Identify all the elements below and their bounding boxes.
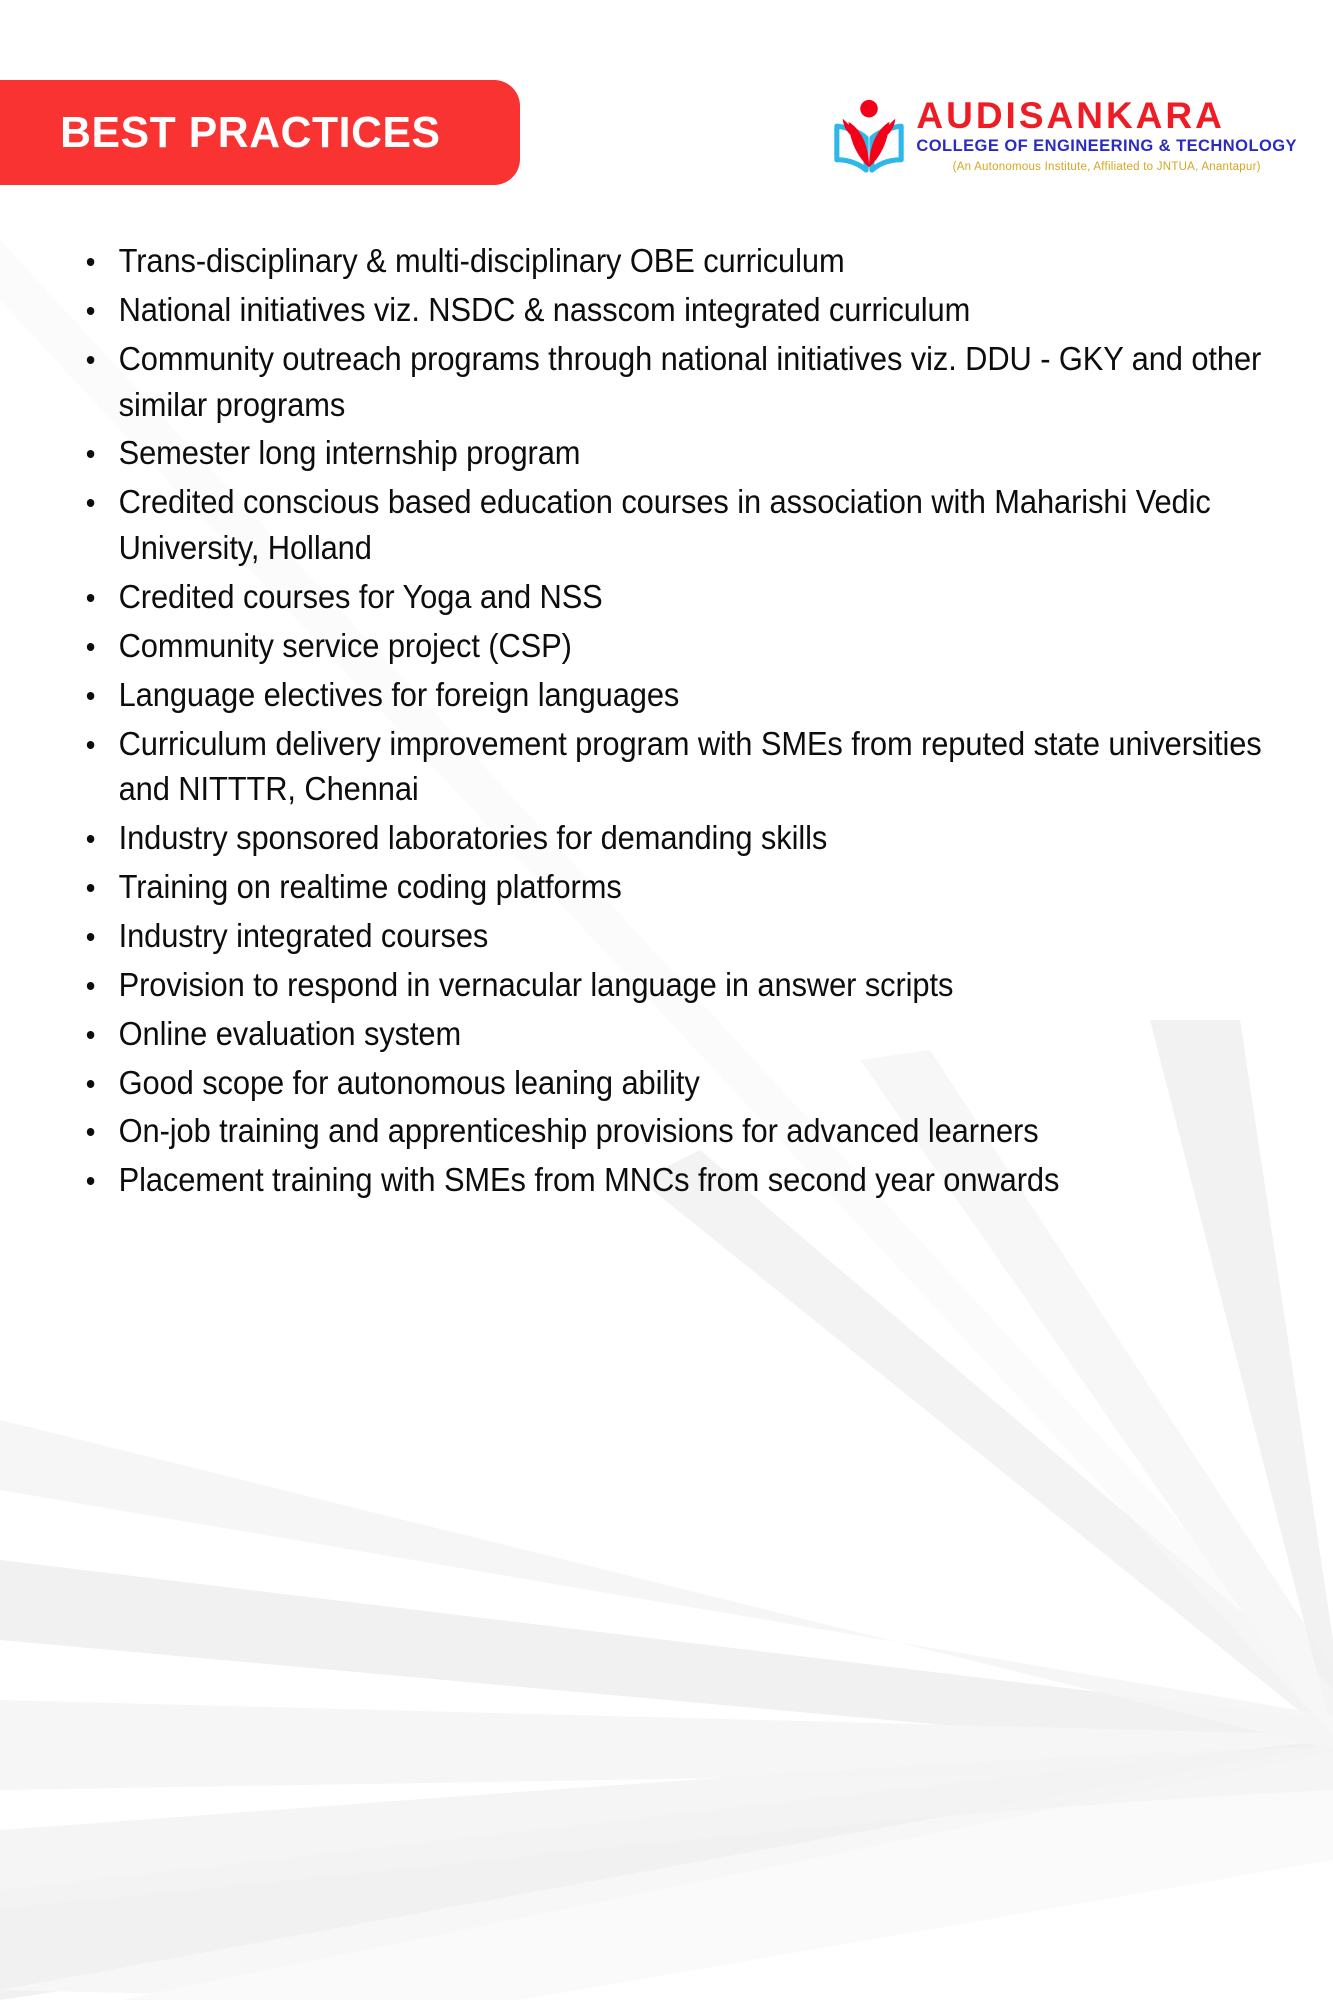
list-item: Trans-disciplinary & multi-disciplinary …: [70, 238, 1312, 284]
list-item: Provision to respond in vernacular langu…: [70, 962, 1312, 1008]
page-title: BEST PRACTICES: [0, 108, 441, 158]
logo-institution-subtitle: COLLEGE OF ENGINEERING & TECHNOLOGY: [916, 136, 1297, 157]
content-area: Trans-disciplinary & multi-disciplinary …: [0, 190, 1333, 1203]
list-item: Industry sponsored laboratories for dema…: [70, 815, 1312, 861]
list-item: Curriculum delivery improvement program …: [70, 721, 1312, 813]
institution-logo: AUDISANKARA COLLEGE OF ENGINEERING & TEC…: [832, 95, 1297, 174]
audisankara-emblem-icon: [832, 97, 906, 173]
list-item: Industry integrated courses: [70, 913, 1312, 959]
page-header: BEST PRACTICES AUDISANKARA COLLEGE OF EN…: [0, 0, 1333, 190]
best-practices-list: Trans-disciplinary & multi-disciplinary …: [70, 238, 1263, 1203]
logo-affiliation-note: (An Autonomous Institute, Affiliated to …: [916, 161, 1297, 175]
list-item: Online evaluation system: [70, 1011, 1312, 1057]
list-item: On-job training and apprenticeship provi…: [70, 1108, 1312, 1154]
list-item: Placement training with SMEs from MNCs f…: [70, 1157, 1312, 1203]
logo-institution-name: AUDISANKARA: [916, 97, 1297, 134]
list-item: Community outreach programs through nati…: [70, 336, 1312, 428]
list-item: National initiatives viz. NSDC & nasscom…: [70, 287, 1312, 333]
list-item: Training on realtime coding platforms: [70, 864, 1312, 910]
list-item: Language electives for foreign languages: [70, 672, 1312, 718]
list-item: Credited courses for Yoga and NSS: [70, 574, 1312, 620]
slide-root: BEST PRACTICES AUDISANKARA COLLEGE OF EN…: [0, 0, 1333, 2000]
list-item: Credited conscious based education cours…: [70, 479, 1312, 571]
list-item: Good scope for autonomous leaning abilit…: [70, 1060, 1312, 1106]
title-banner: BEST PRACTICES: [0, 80, 520, 185]
logo-text-block: AUDISANKARA COLLEGE OF ENGINEERING & TEC…: [916, 95, 1297, 174]
list-item: Community service project (CSP): [70, 623, 1312, 669]
list-item: Semester long internship program: [70, 430, 1312, 476]
